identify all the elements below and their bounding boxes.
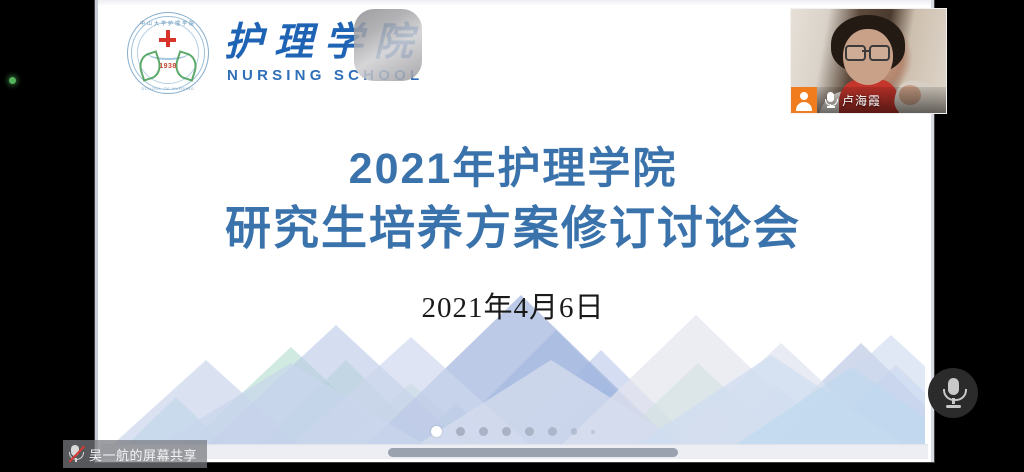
video-person-glasses-left: [845, 45, 866, 61]
slide-dot[interactable]: [548, 427, 557, 436]
horizontal-scrollbar-thumb[interactable]: [388, 448, 678, 457]
participant-video-thumbnail[interactable]: 卢海霞: [790, 8, 947, 114]
microphone-icon: [942, 378, 964, 408]
slide-pager-dots[interactable]: [101, 426, 925, 437]
red-cross-icon: [162, 33, 173, 44]
slide-dot[interactable]: [456, 427, 465, 436]
mountain-triangle: [721, 364, 925, 455]
slide-dot[interactable]: [479, 427, 488, 436]
slide-dot[interactable]: [525, 427, 534, 436]
slide-subtitle-date: 2021年4月6日: [101, 284, 925, 326]
camera-active-led: [9, 77, 16, 84]
video-person-glasses-bridge: [862, 50, 869, 52]
slide-title-line-1: 2021年护理学院: [101, 145, 925, 194]
slide-title-block: 2021年护理学院 研究生培养方案修订讨论会 2021年4月6日: [101, 145, 925, 326]
slide-dot[interactable]: [591, 430, 595, 434]
microphone-icon: [825, 92, 836, 108]
screen-share-label: 吴一航的屏幕共享: [89, 445, 197, 464]
slide-title-line-2: 研究生培养方案修订讨论会: [101, 202, 925, 254]
slide-dot-active[interactable]: [431, 426, 442, 437]
emblem-bottom-text: SCHOOL OF NURSING: [126, 86, 210, 91]
horizontal-scrollbar-track[interactable]: [101, 444, 928, 459]
screen-share-banner: 吴一航的屏幕共享: [63, 440, 207, 468]
video-person-glasses-right: [869, 45, 890, 61]
app-icon-watermark: [354, 9, 422, 81]
school-emblem-icon: 中山大学护理学院 1938 SCHOOL OF NURSING: [126, 11, 210, 95]
slide-dot[interactable]: [502, 427, 511, 436]
microphone-button[interactable]: [928, 368, 978, 418]
slide-dot[interactable]: [571, 428, 578, 435]
zoom-meeting-screen: 中山大学护理学院 1938 SCHOOL OF NURSING 护理学院 NUR…: [0, 0, 1024, 472]
participant-name: 卢海霞: [842, 92, 881, 109]
person-icon: [791, 87, 817, 113]
video-name-bar: 卢海霞: [791, 87, 946, 113]
emblem-year: 1938: [126, 63, 210, 70]
emblem-top-text: 中山大学护理学院: [126, 20, 210, 27]
mic-muted-icon: [67, 444, 84, 464]
participant-mic-status: 卢海霞: [825, 92, 881, 109]
